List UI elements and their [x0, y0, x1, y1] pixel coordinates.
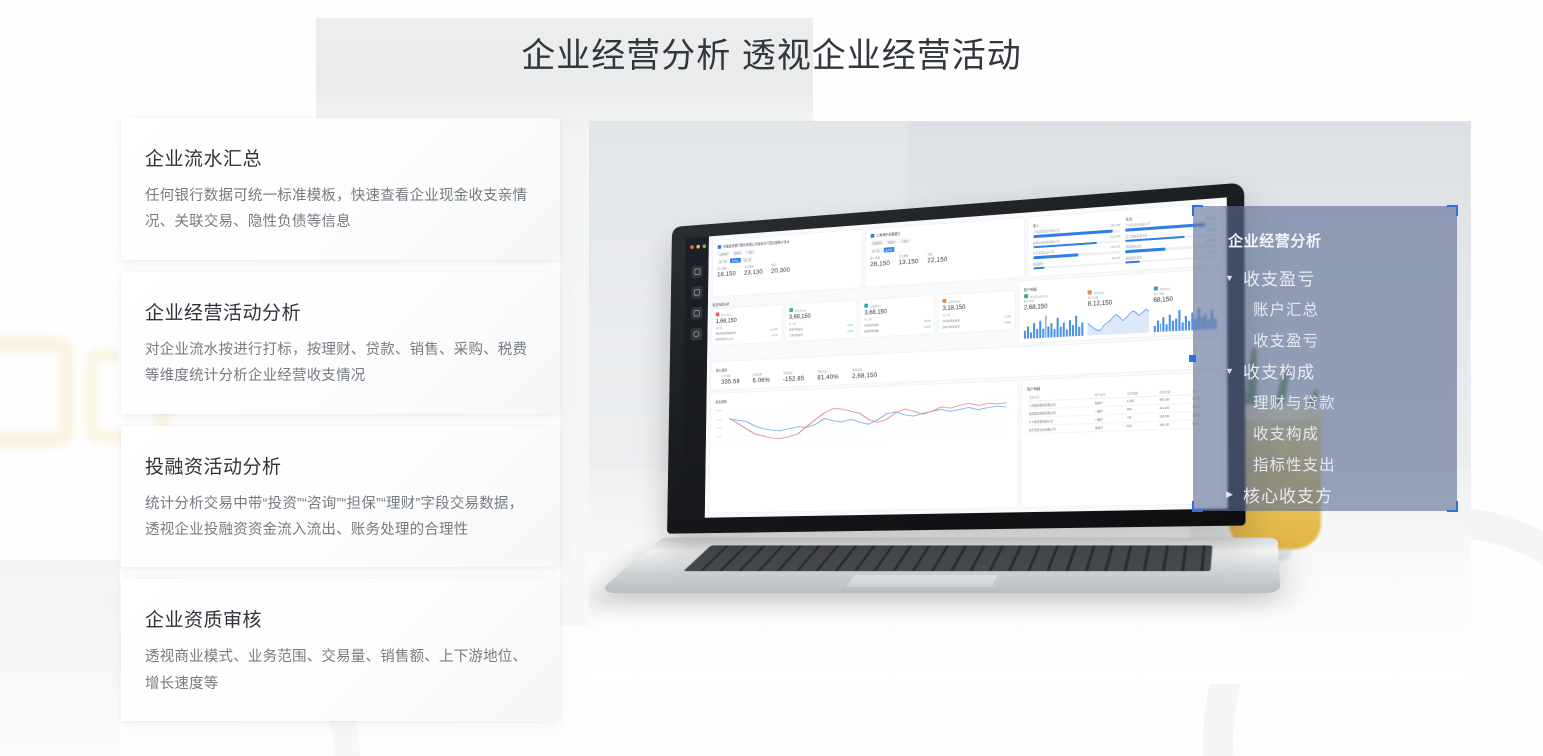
chip[interactable]: 一般户 [745, 249, 756, 255]
feature-card[interactable]: 企业资质审核 透视商业模式、业务范围、交易量、销售额、上下游地位、增长速度等 [121, 579, 560, 721]
bar-amount: 268,150 [1110, 246, 1120, 251]
stat-row-name: 销售回款及预收款项 [715, 331, 735, 336]
bank-icon [718, 244, 722, 248]
status-dot-icon [716, 313, 720, 317]
ratio-value: 2,68,150 [852, 372, 877, 380]
dashboard-app: 中国建设银行股份有限公司深圳分行营业部账户流水 全部账户 基本户 一般户 近一年 [682, 197, 1228, 518]
bar-name: 浦发银行贷款 [1125, 255, 1141, 260]
tree-item-收支构成[interactable]: ▼ 收支构成 [1223, 355, 1447, 386]
ratio-value: 335.59 [721, 379, 740, 387]
tree-item-label: 收支构成 [1243, 358, 1315, 383]
dashboard-bottom-row: 收支趋势 [709, 372, 1222, 513]
feature-card-desc: 任何银行数据可统一标准模板，快速查看企业现金收支亲情况、关联交易、隐性负债等信息 [145, 183, 538, 236]
stat-row-delta: +8.7% [924, 320, 931, 324]
stat-row-name: 还本付息支出项 [942, 324, 959, 329]
feature-card-title: 企业资质审核 [145, 605, 538, 632]
status-dot-icon [1153, 287, 1157, 291]
mini-chart-value: 8,12,150 [1088, 299, 1149, 309]
tree-item-label: 指标性支出 [1253, 453, 1336, 475]
overlay-title: 企业经营分析 [1228, 230, 1322, 251]
kpi-value: 22,150 [927, 256, 947, 264]
mini-chart: 经营活动现金流 累计净额 2,68,150 [1024, 291, 1084, 339]
filter-chip-active[interactable]: 近半年 [883, 247, 894, 253]
kpi-value: 13,150 [899, 258, 919, 266]
bar-amount: 412,150 [1110, 235, 1120, 240]
settings-icon[interactable] [690, 328, 702, 341]
feature-card[interactable]: 企业流水汇总 任何银行数据可统一标准模板，快速查看企业现金收支亲情况、关联交易、… [121, 118, 560, 260]
stat-row-delta: -5.6% [847, 324, 853, 328]
feature-card-title: 投融资活动分析 [145, 452, 538, 479]
stat-row-name: 对外投资支出项 [942, 318, 959, 323]
maximize-icon[interactable] [703, 244, 707, 248]
chip[interactable]: 全部账户 [718, 251, 731, 257]
resize-handle-top-left[interactable] [1192, 205, 1203, 216]
stat-row-name: 其他业务收入合计 [715, 337, 733, 342]
bank-icon [870, 233, 874, 237]
stat-row-name: 融资借款到账 [864, 329, 878, 334]
filter-chip[interactable]: 近一月 [742, 257, 753, 263]
minimize-icon[interactable] [696, 245, 700, 249]
ratio-item: 日均余额 335.59 [721, 374, 740, 386]
svg-text:0: 0 [719, 444, 721, 447]
trend-chart: 8006004002000 [715, 394, 1013, 450]
tree-item-理财与贷款[interactable]: 理财与贷款 [1223, 386, 1447, 417]
stat-row-name: 投资收回款项 [864, 323, 878, 328]
trend-chart-panel: 收支趋势 [709, 381, 1018, 513]
kpi-value: 20,300 [771, 267, 790, 275]
tree-item-指标性支出[interactable]: 指标性支出 [1223, 448, 1447, 479]
laptop-keyboard [683, 545, 1212, 571]
tree-item-核心收支方[interactable]: ▶ 核心收支方 [1223, 479, 1447, 510]
feature-card[interactable]: 投融资活动分析 统计分析交易中带“投资”“咨询”“担保”“理财”字段交易数据，透… [121, 426, 560, 568]
table-cell: 196,150 [1157, 420, 1190, 429]
chip[interactable]: 全部账户 [870, 240, 884, 246]
bar-name: 建设银行 [1033, 262, 1044, 267]
ratio-item: 净现金流 -152.85 [783, 371, 805, 384]
filter-chip[interactable]: 近一年 [717, 259, 728, 264]
stat-row-name: 工资社保支出 [789, 333, 803, 338]
ratio-item: 交易总额 2,68,150 [852, 367, 877, 380]
overlay-tree: ▼ 收支盈亏 账户汇总 收支盈亏 ▼ 收支构成 理财与贷款 收支构成 指标性支出 [1223, 262, 1447, 510]
ratio-item: 回款占比 81.40% [817, 369, 839, 382]
ratio-value: 6.06% [752, 377, 770, 385]
chip[interactable]: 基本户 [732, 250, 743, 256]
table-cell: 专用户 [1093, 423, 1125, 432]
stat-label: 经营性收入 [721, 314, 732, 318]
filter-chip-active[interactable]: 近半年 [730, 258, 741, 263]
bar-fill [1125, 260, 1139, 264]
tree-item-收支盈亏-child[interactable]: 收支盈亏 [1223, 324, 1447, 355]
bank-panel[interactable]: 上海浦东发展银行 全部账户 基本户 一般户 近一年 [865, 218, 1024, 288]
stat-card[interactable]: 经营性支出 3,68,150 较上期 采购付款支出-5.6% 工资社保支出-2.… [785, 301, 857, 342]
filter-chip[interactable]: 近一年 [870, 248, 881, 254]
feature-card-title: 企业经营活动分析 [145, 298, 538, 325]
bg-gold-square-1 [0, 336, 74, 448]
feature-card[interactable]: 企业经营活动分析 对企业流水按进行打标，按理财、贷款、销售、采购、税费等维度统计… [121, 272, 560, 414]
laptop-trackpad [846, 575, 998, 587]
tree-item-label: 核心收支方 [1243, 482, 1333, 507]
kpi: 净额 20,300 [771, 262, 790, 275]
tree-item-label: 收支盈亏 [1243, 265, 1315, 290]
kpi: 支出笔数 23,130 [744, 264, 763, 277]
kpi-value: 28,150 [870, 260, 890, 268]
status-dot-icon [1088, 291, 1092, 295]
bank-panel-title: 上海浦东发展银行 [876, 231, 900, 238]
svg-text:800: 800 [717, 410, 723, 413]
resize-handle-bottom-left[interactable] [1192, 501, 1203, 512]
close-icon[interactable] [690, 245, 694, 249]
ranking-income: 收入 上海某某贸易有限公司680,150 深圳某某科技有限公司412,150 [1033, 215, 1120, 273]
stat-row-delta: -4.8% [1004, 322, 1011, 326]
bank-panel[interactable]: 中国建设银行股份有限公司深圳分行营业部账户流水 全部账户 基本户 一般户 近一年 [712, 230, 861, 297]
stat-row-delta: -7.3% [1004, 316, 1011, 320]
status-dot-icon [942, 299, 946, 303]
mini-chart: 投资活动 累计净额 8,12,150 [1088, 287, 1149, 336]
bar-amount: 38,150 [1112, 256, 1120, 261]
chip[interactable]: 一般户 [899, 238, 910, 244]
stat-row-name: 采购付款支出 [789, 327, 803, 332]
stat-row-delta: +1.9% [924, 326, 931, 330]
laptop-base [596, 538, 1280, 594]
page-root: 企业经营分析 透视企业经营活动 企业流水汇总 任何银行数据可统一标准模板，快速查… [0, 0, 1543, 756]
stat-row-delta: +12.4% [770, 329, 778, 333]
status-dot-icon [1024, 294, 1028, 298]
laptop-screen: 中国建设银行股份有限公司深圳分行营业部账户流水 全部账户 基本户 一般户 近一年 [682, 197, 1228, 518]
stat-row-delta: +3.1% [771, 334, 778, 338]
table-cell: 518 [1125, 422, 1158, 431]
feature-card-list: 企业流水汇总 任何银行数据可统一标准模板，快速查看企业现金收支亲情况、关联交易、… [121, 118, 560, 733]
kpi-value: 23,130 [744, 269, 763, 277]
bar-item: 建设银行38,150 [1033, 256, 1120, 269]
kpi: 支出笔数 13,150 [899, 253, 919, 266]
svg-text:400: 400 [716, 427, 722, 430]
svg-text:200: 200 [716, 436, 722, 439]
kpi-value: 18,150 [717, 270, 736, 278]
chevron-right-icon[interactable]: ▶ [1223, 489, 1237, 500]
chevron-down-icon[interactable]: ▼ [1223, 366, 1237, 376]
tree-item-label: 收支盈亏 [1253, 329, 1319, 351]
ratio-value: -152.85 [783, 376, 804, 384]
resize-handle-bottom-right[interactable] [1447, 501, 1458, 512]
resize-handle-top-right[interactable] [1447, 205, 1458, 216]
stat-card[interactable]: 投融资收入 3,68,150 较上期 投资收回款项+8.7% 融资借款到账+1.… [861, 296, 935, 338]
detail-table: 交易对手 账户类型 交易笔数 交易金额 占比 [1027, 386, 1217, 434]
tree-item-账户汇总[interactable]: 账户汇总 [1223, 293, 1447, 324]
status-dot-icon [789, 308, 793, 312]
grid-icon[interactable] [691, 286, 703, 299]
selection-overlay-panel[interactable]: 企业经营分析 ▼ 收支盈亏 账户汇总 收支盈亏 ▼ 收支构成 理财与贷款 收支构… [1193, 206, 1457, 511]
laptop: 中国建设银行股份有限公司深圳分行营业部账户流水 全部账户 基本户 一般户 近一年 [631, 205, 1291, 635]
sparkline-bars [1024, 312, 1084, 340]
table-cell: 北京某某实业有限公司 [1027, 424, 1093, 434]
svg-text:600: 600 [717, 418, 723, 421]
stat-card[interactable]: 投融资支出 3,18,150 较上期 对外投资支出项-7.3% 还本付息支出项-… [938, 291, 1014, 333]
bar-fill [1033, 266, 1045, 269]
tree-item-label: 收支构成 [1253, 422, 1319, 444]
ratio-value: 81.40% [817, 374, 839, 382]
kpi: 净额 22,150 [927, 251, 947, 264]
chevron-down-icon[interactable]: ▼ [1223, 273, 1237, 283]
resize-handle-middle-left[interactable] [1189, 355, 1196, 362]
laptop-lid: 中国建设银行股份有限公司深圳分行营业部账户流水 全部账户 基本户 一般户 近一年 [667, 182, 1245, 533]
stat-label: 投融资收入 [870, 305, 882, 309]
mini-chart-value: 2,68,150 [1024, 302, 1084, 311]
tree-item-label: 理财与贷款 [1253, 391, 1336, 413]
kpi: 收入笔数 18,150 [717, 266, 736, 279]
stat-card[interactable]: 经营性收入 1,68,150 较上期 销售回款及预收款项+12.4% 其他业务收… [712, 305, 782, 345]
tree-item-label: 账户汇总 [1253, 298, 1319, 320]
dashboard-content: 中国建设银行股份有限公司深圳分行营业部账户流水 全部账户 基本户 一般户 近一年 [705, 197, 1228, 517]
user-icon[interactable] [690, 307, 702, 320]
mini-charts-panel: 账户明细 经营活动现金流 累计净额 2,68,150 [1019, 269, 1222, 343]
tree-item-收支构成-child[interactable]: 收支构成 [1223, 417, 1447, 448]
feature-card-title: 企业流水汇总 [145, 144, 538, 171]
status-dot-icon [865, 304, 869, 308]
stat-label: 经营性支出 [795, 310, 807, 314]
page-title: 企业经营分析 透视企业经营活动 [0, 28, 1543, 77]
bar-amount: 680,150 [1110, 224, 1120, 229]
sparkline-area [1088, 308, 1149, 336]
feature-card-desc: 对企业流水按进行打标，按理财、贷款、销售、采购、税费等维度统计分析企业经营收支情… [145, 337, 538, 390]
kpi: 收入笔数 28,150 [870, 255, 890, 268]
tree-item-收支盈亏[interactable]: ▼ 收支盈亏 [1223, 262, 1447, 293]
bg-shelf [0, 560, 120, 756]
stat-row-delta: -2.2% [847, 330, 853, 334]
feature-card-desc: 透视商业模式、业务范围、交易量、销售额、上下游地位、增长速度等 [145, 644, 538, 697]
window-traffic-lights[interactable] [686, 244, 709, 249]
feature-card-desc: 统计分析交易中带“投资”“咨询”“担保”“理财”字段交易数据，透视企业投融资资金… [145, 491, 538, 544]
screen-share-icon[interactable] [691, 265, 703, 278]
chip[interactable]: 基本户 [886, 239, 897, 245]
ratio-item: 存贷比率 6.06% [752, 372, 770, 384]
stat-label: 投融资支出 [948, 300, 960, 304]
